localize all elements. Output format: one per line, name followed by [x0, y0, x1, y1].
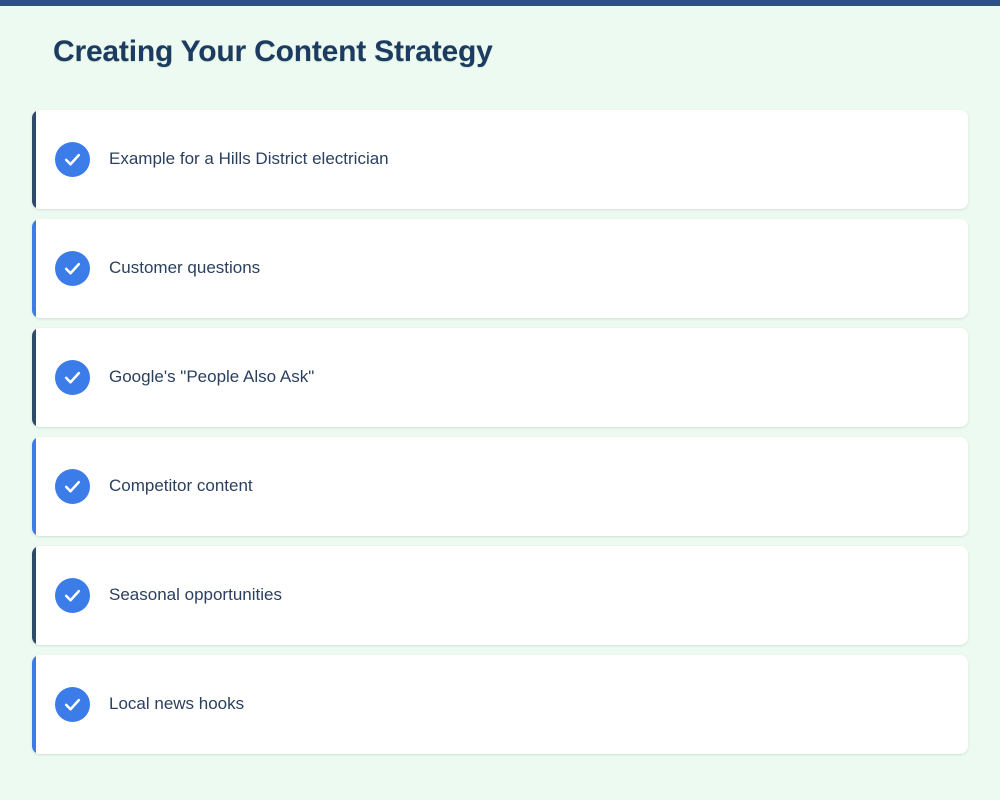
list-item-label: Local news hooks — [109, 693, 244, 715]
check-circle-icon — [55, 360, 90, 395]
list-item[interactable]: Customer questions — [32, 219, 968, 318]
card-accent-bar — [32, 546, 36, 645]
card-accent-bar — [32, 655, 36, 754]
list-item[interactable]: Seasonal opportunities — [32, 546, 968, 645]
check-circle-icon — [55, 687, 90, 722]
card-accent-bar — [32, 219, 36, 318]
list-item-label: Seasonal opportunities — [109, 584, 282, 606]
page-container: Creating Your Content Strategy Example f… — [0, 6, 1000, 800]
check-circle-icon — [55, 142, 90, 177]
card-accent-bar — [32, 110, 36, 209]
page-title: Creating Your Content Strategy — [0, 6, 1000, 70]
check-circle-icon — [55, 251, 90, 286]
list-item-label: Example for a Hills District electrician — [109, 148, 389, 170]
list-item[interactable]: Competitor content — [32, 437, 968, 536]
list-item[interactable]: Local news hooks — [32, 655, 968, 754]
check-circle-icon — [55, 578, 90, 613]
card-accent-bar — [32, 328, 36, 427]
card-accent-bar — [32, 437, 36, 536]
check-circle-icon — [55, 469, 90, 504]
list-item[interactable]: Google's "People Also Ask" — [32, 328, 968, 427]
checklist: Example for a Hills District electrician… — [0, 110, 1000, 754]
list-item-label: Customer questions — [109, 257, 260, 279]
list-item-label: Competitor content — [109, 475, 253, 497]
list-item[interactable]: Example for a Hills District electrician — [32, 110, 968, 209]
list-item-label: Google's "People Also Ask" — [109, 366, 314, 388]
